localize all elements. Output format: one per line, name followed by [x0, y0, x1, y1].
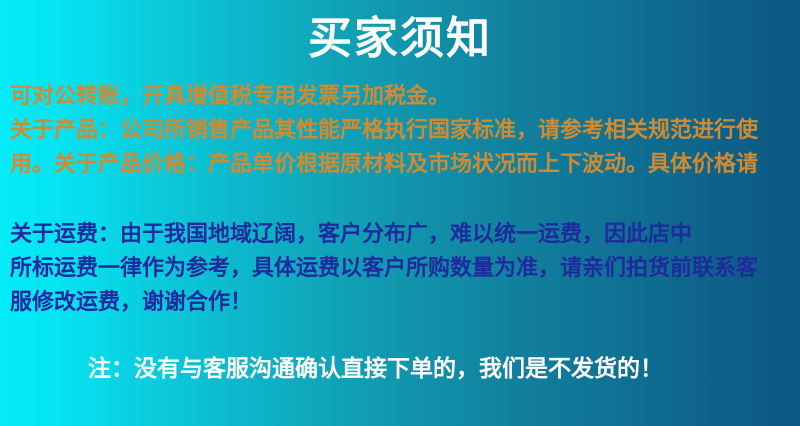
notice-orange-paragraph: 可对公转账，开具增值税专用发票另加税金。 关于产品：公司所销售产品其性能严格执行… [10, 80, 758, 182]
notice-blue-line-2: 所标运费一律作为参考，具体运费以客户所购数量为准，请亲们拍货前联系客 [10, 252, 758, 286]
notice-orange-line-3: 用。关于产品价格：产品单价根据原材料及市场状况而上下波动。具体价格请 [10, 148, 758, 182]
note-warning-line: 注：没有与客服沟通确认直接下单的，我们是不发货的！ [88, 352, 663, 386]
buyer-notice-banner: 买家须知 可对公转账，开具增值税专用发票另加税金。 关于产品：公司所销售产品其性… [0, 0, 800, 426]
notice-orange-line-1: 可对公转账，开具增值税专用发票另加税金。 [10, 80, 758, 114]
notice-blue-line-1: 关于运费：由于我国地域辽阔，客户分布广，难以统一运费，因此店中 [10, 218, 758, 252]
notice-orange-line-2: 关于产品：公司所销售产品其性能严格执行国家标准，请参考相关规范进行使 [10, 114, 758, 148]
notice-blue-line-3: 服修改运费，谢谢合作！ [10, 286, 758, 320]
notice-blue-paragraph: 关于运费：由于我国地域辽阔，客户分布广，难以统一运费，因此店中 所标运费一律作为… [10, 218, 758, 320]
page-title: 买家须知 [0, 12, 800, 66]
